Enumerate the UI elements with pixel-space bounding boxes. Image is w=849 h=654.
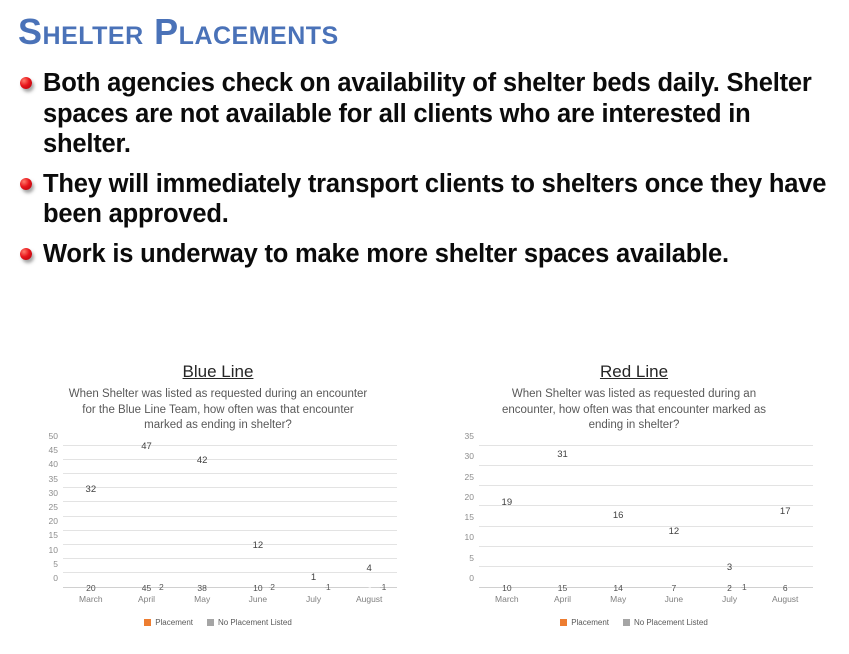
y-axis-tick-label: 5 [469,553,474,563]
bar-group: 321220March47245April42438May12210June11… [63,446,397,588]
bar-slot[interactable]: 17116August [757,446,813,588]
x-axis-tick-label: August [341,594,397,604]
y-axis-tick-label: 35 [49,474,58,484]
plot-wrapper: 05101520253035404550321220March47245Apri… [33,440,403,610]
bullet-list: Both agencies check on availability of s… [20,68,840,279]
chart-title: Blue Line [8,362,428,382]
bar-total-label: 3 [702,562,758,573]
x-axis-tick-label: May [174,594,230,604]
bar-segment-value-label: 15 [551,583,573,593]
y-axis-tick-label: 20 [465,492,474,502]
list-item: Work is underway to make more shelter sp… [20,239,840,270]
bar-segment-value-label: 10 [247,583,269,593]
y-axis-tick-label: 50 [49,431,58,441]
bar-slot[interactable]: 19910March [479,446,535,588]
bar-segment-value-label: 38 [191,583,213,593]
bar-slot[interactable]: 16214May [590,446,646,588]
x-axis-tick-label: March [63,594,119,604]
bar-group: 19910March311615April16214May1257June312… [479,446,813,588]
chart-legend: Placement No Placement Listed [424,618,844,627]
bar-total-label: 4 [341,563,397,574]
y-axis-tick-label: 15 [465,512,474,522]
bar-segment-value-label: 14 [607,583,629,593]
bar-slot[interactable]: 431August [341,446,397,588]
bullet-sphere-icon [20,77,32,89]
bar-segment-value-label: 10 [496,583,518,593]
y-axis-tick-label: 35 [465,431,474,441]
bar-segment-value-label: 7 [663,583,685,593]
y-axis-tick-label: 45 [49,445,58,455]
chart-subtitle: When Shelter was listed as requested dur… [68,387,368,434]
bar-total-label: 32 [63,484,119,495]
bar-slot[interactable]: 11July [286,446,342,588]
bar-slot[interactable]: 12210June [230,446,286,588]
chart-blue-line: Blue Line When Shelter was listed as req… [8,362,428,654]
bar-slot[interactable]: 321220March [63,446,119,588]
bullet-text: They will immediately transport clients … [43,169,840,230]
x-axis-tick-label: April [119,594,175,604]
bar-segment-callout-label: 2 [159,582,164,592]
bar-total-label: 42 [174,455,230,466]
bar-total-label: 47 [119,441,175,452]
x-axis-tick-label: July [702,594,758,604]
legend-label: Placement [571,618,609,627]
bar-slot[interactable]: 312July [702,446,758,588]
bar-slot[interactable]: 47245April [119,446,175,588]
x-axis-tick-label: August [757,594,813,604]
legend-label: No Placement Listed [218,618,292,627]
legend-swatch-icon [560,619,567,626]
bullet-sphere-icon [20,248,32,260]
x-axis-tick-label: July [286,594,342,604]
bar-segment-callout-label: 1 [382,582,387,592]
plot-area: 05101520253035404550321220March47245Apri… [63,446,397,588]
y-axis-tick-label: 0 [469,573,474,583]
legend-item-no-placement: No Placement Listed [623,618,708,627]
y-axis-tick-label: 25 [465,472,474,482]
x-axis-tick-label: June [230,594,286,604]
y-axis-tick-label: 10 [465,532,474,542]
bar-total-label: 12 [230,540,286,551]
bar-slot[interactable]: 311615April [535,446,591,588]
bar-segment-value-label: 2 [718,583,740,593]
bar-segment-value-label: 45 [135,583,157,593]
x-axis-tick-label: April [535,594,591,604]
y-axis-tick-label: 40 [49,459,58,469]
plot-area: 0510152025303519910March311615April16214… [479,446,813,588]
bar-total-label: 12 [646,526,702,537]
legend-item-placement: Placement [144,618,193,627]
bar-segment-value-label: 6 [774,583,796,593]
x-axis-tick-label: May [590,594,646,604]
y-axis-tick-label: 5 [53,559,58,569]
bar-total-label: 19 [479,497,535,508]
list-item: Both agencies check on availability of s… [20,68,840,160]
bar-segment-callout-label: 2 [270,582,275,592]
bar-slot[interactable]: 42438May [174,446,230,588]
legend-item-placement: Placement [560,618,609,627]
plot-wrapper: 0510152025303519910March311615April16214… [449,440,819,610]
legend-item-no-placement: No Placement Listed [207,618,292,627]
legend-swatch-icon [623,619,630,626]
list-item: They will immediately transport clients … [20,169,840,230]
y-axis-tick-label: 25 [49,502,58,512]
x-axis-tick-label: June [646,594,702,604]
y-axis-tick-label: 0 [53,573,58,583]
bar-total-label: 1 [286,572,342,583]
y-axis-tick-label: 30 [49,488,58,498]
y-axis-tick-label: 30 [465,451,474,461]
x-axis-tick-label: March [479,594,535,604]
y-axis-tick-label: 15 [49,530,58,540]
bar-total-label: 31 [535,449,591,460]
chart-legend: Placement No Placement Listed [8,618,428,627]
charts-container: Blue Line When Shelter was listed as req… [0,362,849,654]
bullet-text: Work is underway to make more shelter sp… [43,239,840,270]
legend-label: No Placement Listed [634,618,708,627]
bar-total-label: 16 [590,510,646,521]
legend-swatch-icon [144,619,151,626]
bar-total-label: 17 [757,506,813,517]
y-axis-tick-label: 10 [49,545,58,555]
bullet-text: Both agencies check on availability of s… [43,68,840,160]
bar-segment-callout-label: 1 [742,582,747,592]
page-title: Shelter Placements [18,14,339,50]
chart-title: Red Line [424,362,844,382]
legend-label: Placement [155,618,193,627]
bar-segment-value-label: 3 [358,583,380,593]
bullet-sphere-icon [20,178,32,190]
bar-segment-value-label: 20 [80,583,102,593]
y-axis-tick-label: 20 [49,516,58,526]
bar-segment-callout-label: 1 [326,582,331,592]
bar-slot[interactable]: 1257June [646,446,702,588]
chart-subtitle: When Shelter was listed as requested dur… [484,387,784,434]
legend-swatch-icon [207,619,214,626]
chart-red-line: Red Line When Shelter was listed as requ… [424,362,844,654]
